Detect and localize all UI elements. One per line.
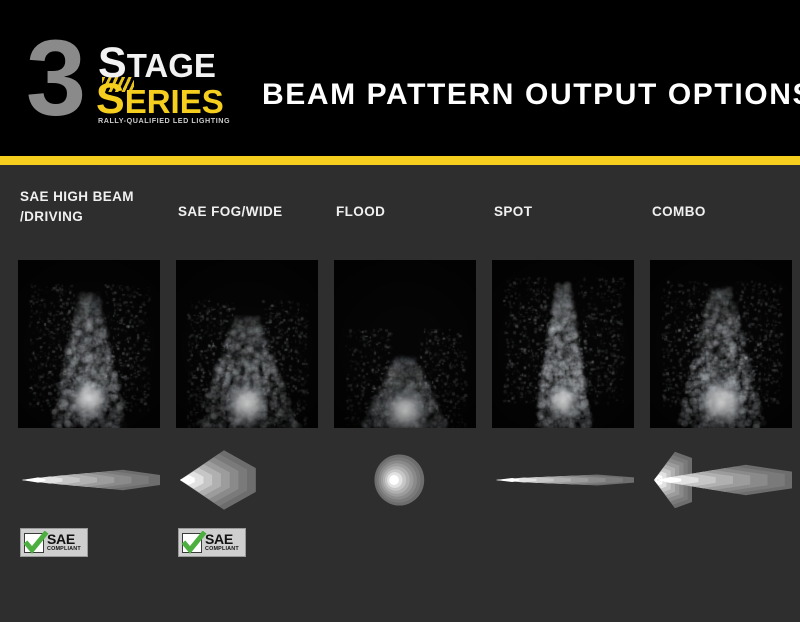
beam-diagram-combo — [650, 445, 792, 515]
sae-badge-sub: COMPLIANT — [47, 547, 81, 552]
beam-photo-combo[interactable] — [650, 260, 792, 428]
sae-compliant-badge-sae-fog-wide: SAECOMPLIANT — [178, 528, 246, 557]
column-label-sae-high-beam-driving: SAE HIGH BEAM/DRIVING — [18, 187, 160, 226]
beam-photo-sae-high-beam-driving[interactable] — [18, 260, 160, 428]
logo-tagline: RALLY-QUALIFIED LED LIGHTING — [98, 116, 230, 125]
logo-series-text: SERIES — [96, 78, 224, 121]
sae-badge-sub: COMPLIANT — [205, 547, 239, 552]
brand-logo: 3 STAGE SERIES RALLY-QUALIFIED LED LIGHT… — [26, 26, 241, 134]
column-label-combo: COMBO — [650, 202, 792, 222]
column-label-spot: SPOT — [492, 202, 634, 222]
sae-compliant-badge-sae-high-beam-driving: SAECOMPLIANT — [20, 528, 88, 557]
logo-numeral-3: 3 — [26, 28, 82, 128]
header-bar: 3 STAGE SERIES RALLY-QUALIFIED LED LIGHT… — [0, 0, 800, 156]
page-title: BEAM PATTERN OUTPUT OPTIONS — [262, 78, 800, 112]
sae-badge-main: SAE — [47, 532, 81, 546]
accent-divider-bar — [0, 156, 800, 165]
beam-photo-sae-fog-wide[interactable] — [176, 260, 318, 428]
beam-diagram-sae-fog-wide — [176, 445, 318, 515]
beam-diagram-sae-high-beam-driving — [18, 445, 160, 515]
column-label-sae-fog-wide: SAE FOG/WIDE — [176, 202, 318, 222]
check-icon — [182, 533, 202, 553]
beam-diagram-spot — [492, 445, 634, 515]
beam-diagram-flood — [334, 445, 476, 515]
beam-photo-flood[interactable] — [334, 260, 476, 428]
beam-pattern-grid: SAE HIGH BEAM/DRIVINGSAECOMPLIANTSAE FOG… — [0, 165, 800, 622]
check-icon — [24, 533, 44, 553]
column-label-flood: FLOOD — [334, 202, 476, 222]
sae-badge-main: SAE — [205, 532, 239, 546]
beam-photo-spot[interactable] — [492, 260, 634, 428]
